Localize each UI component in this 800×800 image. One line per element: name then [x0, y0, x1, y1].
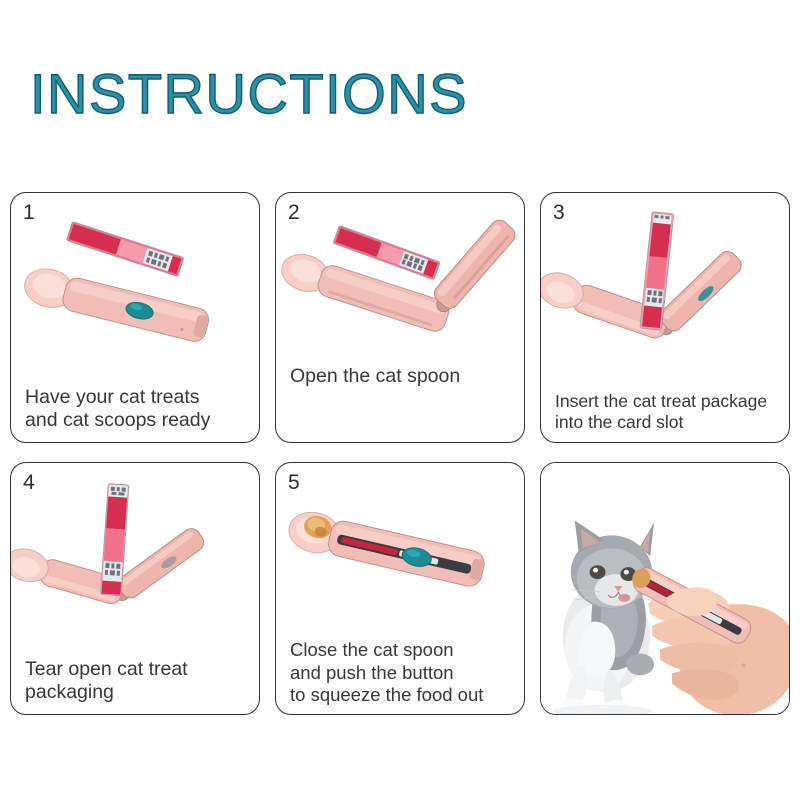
step-number-3: 3: [553, 199, 565, 226]
instruction-card-3: 3: [540, 192, 790, 443]
figure-opened-spoon-l-shape: [276, 201, 524, 361]
instruction-card-2: 2: [275, 192, 525, 443]
caption-5: Close the cat spoon and push the button …: [276, 639, 524, 706]
figure-package-inserted-into-v-spoon: [541, 201, 789, 361]
caption-2: Open the cat spoon: [276, 365, 524, 388]
figure-treat-package-and-closed-spoon: [11, 201, 259, 361]
instruction-card-4: 4: [10, 462, 260, 715]
kitten-photo: [541, 463, 789, 714]
instruction-card-photo-kitten: [540, 462, 790, 715]
caption-4: Tear open cat treat packaging: [11, 658, 259, 704]
instruction-card-grid: 1: [10, 192, 790, 716]
page-title: INSTRUCTIONS: [30, 66, 468, 122]
step-number-4: 4: [23, 469, 35, 496]
figure-torn-package-in-open-spoon: [11, 471, 259, 631]
step-number-5: 5: [288, 469, 300, 496]
step-number-2: 2: [288, 199, 300, 226]
instruction-card-1: 1: [10, 192, 260, 443]
caption-1: Have your cat treats and cat scoops read…: [11, 386, 259, 432]
step-number-1: 1: [23, 199, 35, 226]
caption-3: Insert the cat treat package into the ca…: [541, 391, 789, 432]
figure-closed-spoon-with-food: [276, 471, 524, 631]
instruction-card-5: 5: [275, 462, 525, 715]
